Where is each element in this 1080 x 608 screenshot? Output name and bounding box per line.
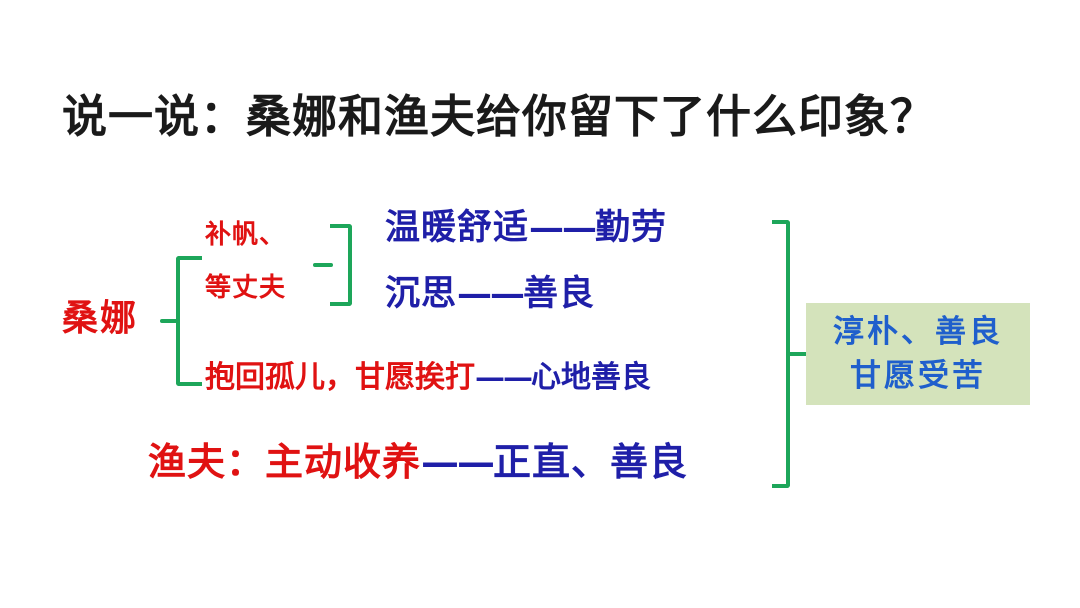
conclusion-line-2: 甘愿受苦 — [850, 354, 986, 398]
detail-2-behavior: 沉思 — [385, 273, 457, 314]
node-cue-line2: 等丈夫 — [205, 275, 286, 301]
detail-2-trait: 善良 — [523, 273, 595, 314]
detail-1-dash: —— — [529, 207, 595, 248]
node-branch-b: 抱回孤儿，甘愿挨打——心地善良 — [205, 363, 651, 393]
node-cue-line1: 补帆、 — [205, 222, 286, 248]
detail-2-dash: —— — [457, 273, 523, 314]
branch-b-dash: —— — [475, 360, 531, 395]
fisherman-behavior: 渔夫：主动收养 — [148, 439, 421, 484]
node-detail-2: 沉思——善良 — [385, 276, 595, 311]
bracket-main-left-stem — [160, 319, 180, 323]
branch-b-behavior: 抱回孤儿，甘愿挨打 — [205, 360, 475, 395]
branch-b-trait: 心地善良 — [531, 360, 651, 395]
detail-1-behavior: 温暖舒适 — [385, 207, 529, 248]
bracket-small-right-stem — [313, 263, 333, 267]
node-detail-1: 温暖舒适——勤劳 — [385, 210, 667, 245]
conclusion-line-1: 淳朴、善良 — [833, 310, 1003, 354]
node-fisherman: 渔夫：主动收养——正直、善良 — [148, 443, 688, 481]
conclusion-box: 淳朴、善良 甘愿受苦 — [806, 303, 1030, 405]
slide-canvas: 说一说：桑娜和渔夫给你留下了什么印象？ 桑娜 补帆、 等丈夫 温暖舒适——勤劳 … — [0, 0, 1080, 608]
detail-1-trait: 勤劳 — [595, 207, 667, 248]
node-root-sangna: 桑娜 — [62, 300, 138, 336]
fisherman-trait: 正直、善良 — [493, 439, 688, 484]
bracket-small-right — [330, 224, 352, 306]
fisherman-dash: —— — [421, 439, 493, 484]
page-title: 说一说：桑娜和渔夫给你留下了什么印象？ — [62, 92, 1002, 142]
